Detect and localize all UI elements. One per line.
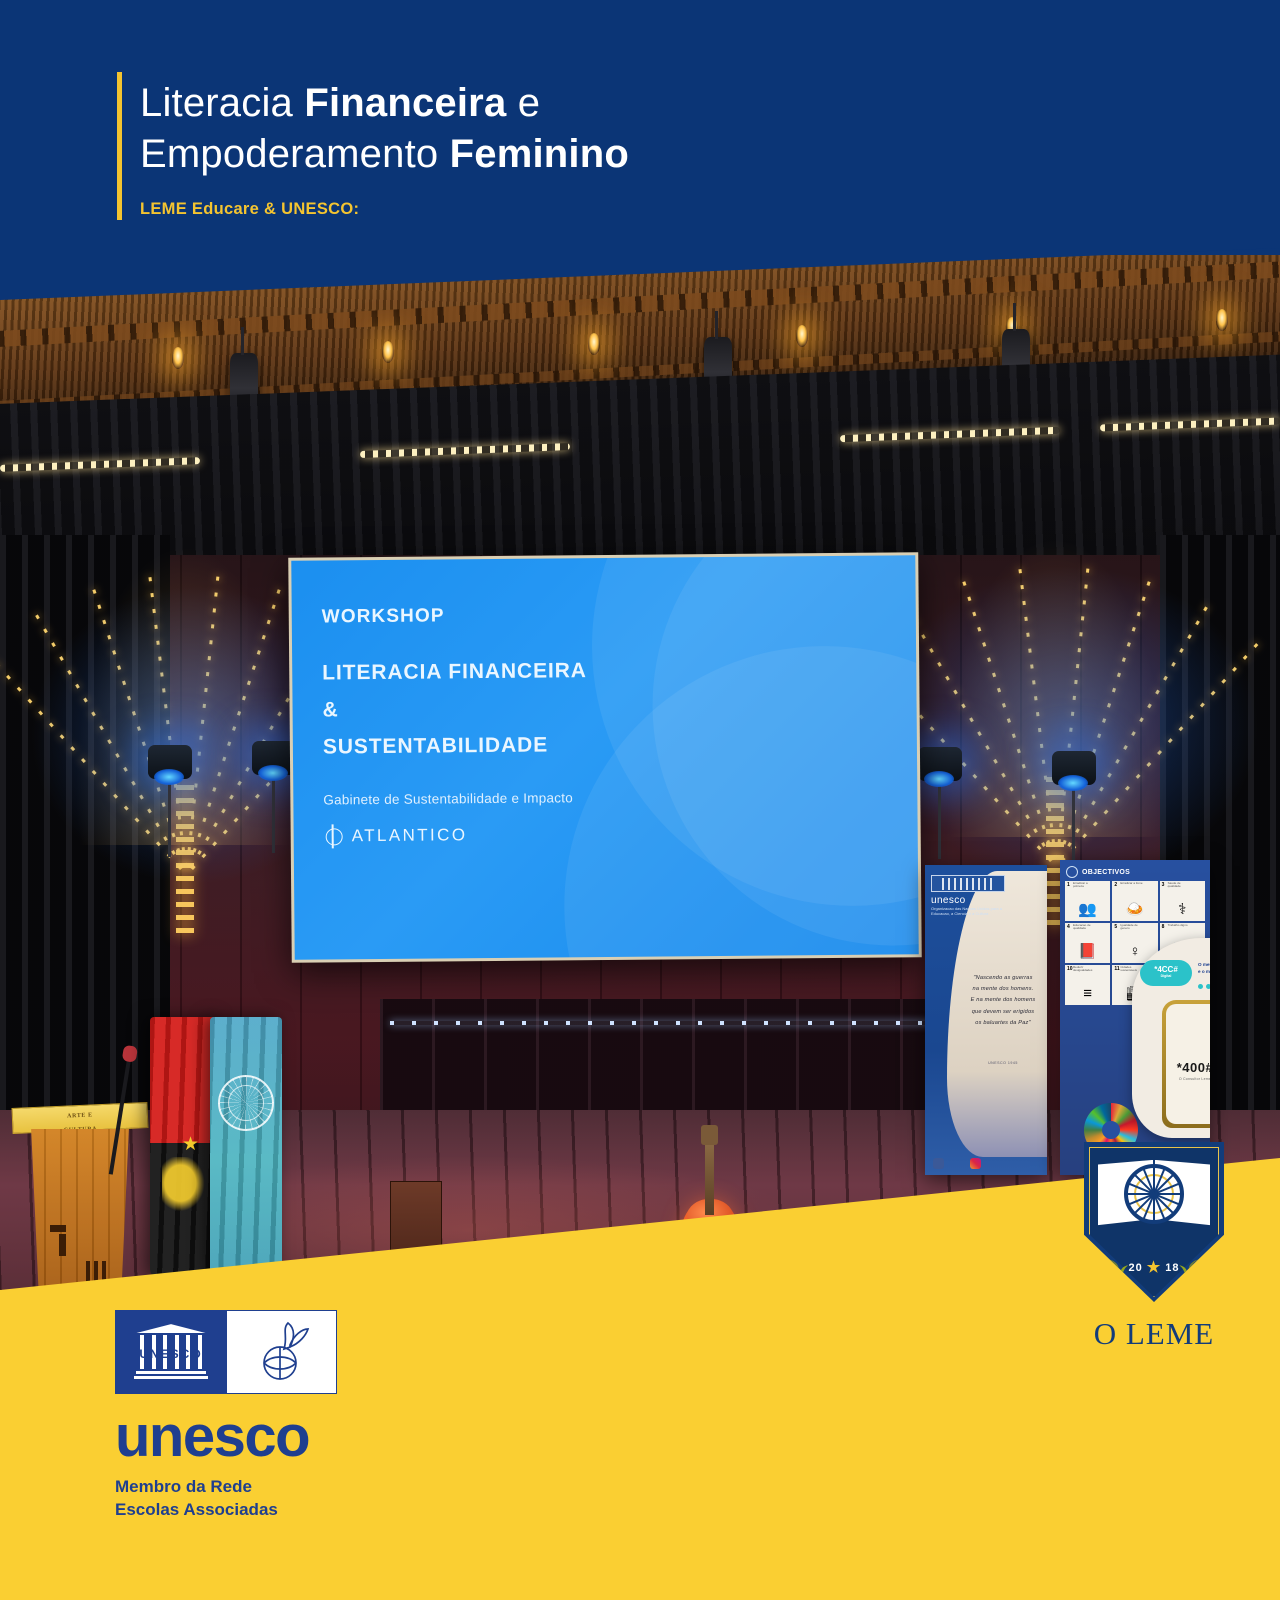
ceiling-bulb xyxy=(1216,309,1228,331)
quote-line: E na mente dos homens xyxy=(959,995,1047,1006)
guitar-headstock xyxy=(701,1125,718,1145)
sdg-goal-text: Erradicar a fome xyxy=(1120,882,1146,885)
unesco-network-label: Membro da Rede Escolas Associadas xyxy=(115,1476,415,1522)
podium-cutout xyxy=(59,1234,66,1256)
quote-line: na mente dos homens. xyxy=(959,984,1047,995)
page-title: Literacia Financeira e Empoderamento Fem… xyxy=(140,78,629,180)
phone-advert-headline: O meu telemovel e o meu Banco! xyxy=(1198,962,1210,976)
projection-screen: WORKSHOP LITERACIA FINANCEIRA & SUSTENTA… xyxy=(288,552,922,962)
stage-spotlight xyxy=(1052,751,1096,785)
crest-star-icon: ★ xyxy=(1147,1259,1161,1276)
crest-year: 20 ★ 18 xyxy=(1084,1258,1224,1276)
slide-title-line2: & xyxy=(322,687,906,729)
crest-year-left: 20 xyxy=(1128,1262,1142,1274)
spotlight-stand xyxy=(272,773,275,853)
ussd-code-sub: O Consultor Leme xyxy=(1166,1077,1210,1081)
sdg-goal-cell: 4Educacao de qualidade📕 xyxy=(1065,923,1110,963)
title-line-2: Empoderamento Feminino xyxy=(140,129,629,180)
sdg-goal-cell: 3Saude de qualidade⚕ xyxy=(1160,881,1205,921)
unesco-network-line1: Membro da Rede xyxy=(115,1476,415,1499)
unesco-tile-word: UNESCO xyxy=(116,1347,226,1361)
oleme-crest-icon: 🌾 🌾 20 ★ 18 xyxy=(1084,1142,1224,1302)
atlantico-logo-icon xyxy=(324,825,343,849)
title-word-bold: Financeira xyxy=(304,81,506,125)
crest-ships-wheel-icon xyxy=(1124,1164,1184,1224)
advert-dots xyxy=(1198,984,1210,989)
riser-led-bar xyxy=(390,1021,930,1025)
stage-spotlight xyxy=(148,745,192,779)
ussd-badge: *4CC# Digital xyxy=(1140,960,1192,986)
ussd-badge-sub: Digital xyxy=(1140,975,1192,979)
podium-cutouts xyxy=(50,1225,84,1259)
banner-unesco-source: UNESCO 1945 xyxy=(965,1061,1041,1065)
dot-icon xyxy=(1206,984,1210,989)
title-accent-bar xyxy=(117,72,122,220)
title-word-plain: Empoderamento xyxy=(140,132,450,176)
sdg-goal-number: 4 xyxy=(1067,924,1070,930)
poster-root: WORKSHOP LITERACIA FINANCEIRA & SUSTENTA… xyxy=(0,0,1280,1600)
slide-brand: ATLANTICO xyxy=(324,820,908,849)
quote-line: os baluartes da Paz" xyxy=(959,1018,1047,1029)
sdg-goal-cell: 1Erradicar a pobreza👥 xyxy=(1065,881,1110,921)
headline-line2: e o meu Banco! xyxy=(1198,969,1210,976)
ceiling-bulb xyxy=(382,341,394,363)
spotlight-stand xyxy=(938,779,941,859)
podium-body xyxy=(28,1129,132,1287)
banner-unesco-tile xyxy=(931,875,1005,892)
sdg-banner-title: OBJECTIVOS xyxy=(1082,869,1130,876)
sdg-goal-text: Erradicar a pobreza xyxy=(1073,882,1099,889)
sdg-goal-glyph: 👥 xyxy=(1078,900,1097,918)
un-logo-icon xyxy=(1066,866,1078,878)
facebook-icon xyxy=(933,1158,944,1169)
sdg-goal-cell: 2Erradicar a fome🍛 xyxy=(1112,881,1157,921)
title-word-bold: Feminino xyxy=(450,132,629,176)
sdg-goal-glyph: ♀ xyxy=(1129,943,1140,960)
ceiling-bulb xyxy=(796,325,808,347)
unesco-temple-icon xyxy=(942,878,994,890)
sdg-goal-text: Reduzir desigualdades xyxy=(1073,966,1099,973)
slide-surface: WORKSHOP LITERACIA FINANCEIRA & SUSTENTA… xyxy=(291,555,918,959)
ceiling-bulb xyxy=(588,333,600,355)
sdg-goal-number: 1 xyxy=(1067,882,1070,888)
podium-sign-line1: ARTE E xyxy=(13,1109,147,1123)
sdg-goal-glyph: 📕 xyxy=(1078,942,1097,960)
un-emblem-icon xyxy=(218,1075,274,1131)
dot-icon xyxy=(1198,984,1203,989)
banner-social-icons xyxy=(933,1158,981,1169)
sdg-banner-header: OBJECTIVOS xyxy=(1060,860,1210,881)
phone-advert: *4CC# Digital O meu telemovel e o meu Ba… xyxy=(1132,938,1210,1138)
flag-united-nations xyxy=(210,1017,282,1279)
sdg-goal-text: Igualdade de genero xyxy=(1120,924,1146,931)
banner-unesco-rollup: unesco Organizacao das Nacoes Unidas par… xyxy=(925,865,1047,1175)
phone-ussd-code: *400# O Consultor Leme xyxy=(1166,1060,1210,1081)
flag-angola-star-icon: ★ xyxy=(182,1135,199,1154)
flag-angola-emblem xyxy=(162,1157,208,1215)
associated-schools-tile xyxy=(226,1311,336,1393)
unesco-associated-schools-lockup: UNESCO unesco Membro da Rede Escola xyxy=(115,1310,415,1522)
wheel-spokes xyxy=(1128,1168,1180,1220)
ussd-badge-code: *4CC# xyxy=(1154,965,1178,974)
ceiling-bulb xyxy=(172,347,184,369)
sdg-goal-number: 11 xyxy=(1114,966,1119,972)
podium-cutout xyxy=(50,1225,66,1232)
crest-year-right: 18 xyxy=(1165,1262,1179,1274)
banner-unesco-tagline: Organizacao das Nacoes Unidas para a Edu… xyxy=(931,907,1005,917)
instagram-icon xyxy=(970,1158,981,1169)
unesco-network-line2: Escolas Associadas xyxy=(115,1499,415,1522)
oleme-brand-lockup: 🌾 🌾 20 ★ 18 O LEME xyxy=(1076,1142,1232,1352)
sdg-goal-glyph: 🍛 xyxy=(1126,900,1145,918)
sdg-goal-glyph: ≡ xyxy=(1083,985,1092,1002)
slide-title-line1: LITERACIA FINANCEIRA xyxy=(322,650,906,692)
sdg-goal-text: Trabalho digno xyxy=(1168,924,1194,927)
banner-unesco-quote: "Nascendo as guerras na mente dos homens… xyxy=(959,973,1047,1029)
quote-line: que devem ser erigidos xyxy=(959,1007,1047,1018)
sdg-goal-number: 10 xyxy=(1067,966,1073,972)
sdg-goal-glyph: ⚕ xyxy=(1178,900,1186,918)
headline-line1: O meu telemovel xyxy=(1198,962,1210,969)
temple-base-wide xyxy=(134,1376,208,1379)
banner-unesco-wordmark: unesco xyxy=(931,895,1005,906)
title-line-1: Literacia Financeira e xyxy=(140,78,629,129)
unesco-wordmark: unesco xyxy=(115,1408,415,1466)
title-word-plain: Literacia xyxy=(140,81,304,125)
stage-riser xyxy=(380,999,940,1125)
temple-base xyxy=(136,1371,206,1374)
sdg-goal-text: Educacao de qualidade xyxy=(1073,924,1099,931)
stage-spotlight xyxy=(918,747,962,781)
blue-wash-right xyxy=(880,565,1260,885)
sdg-goal-number: 3 xyxy=(1162,882,1165,888)
unesco-logo-tiles: UNESCO xyxy=(115,1310,337,1394)
phone-mockup: *400# O Consultor Leme xyxy=(1162,1000,1210,1128)
sdg-goal-number: 5 xyxy=(1114,924,1117,930)
spotlight-stand xyxy=(168,777,171,857)
phone-screen: *400# O Consultor Leme xyxy=(1166,1004,1210,1124)
banner-sdg-rollup: OBJECTIVOS 1Erradicar a pobreza👥 2Erradi… xyxy=(1060,860,1210,1175)
associated-schools-bird-icon xyxy=(254,1321,310,1383)
slide-department: Gabinete de Sustentabilidade e Impacto xyxy=(323,788,907,808)
slide-title-line3: SUSTENTABILIDADE xyxy=(323,724,907,766)
quote-line: "Nascendo as guerras xyxy=(959,973,1047,984)
slide-brand-label: ATLANTICO xyxy=(352,825,468,846)
title-word-tail: e xyxy=(506,81,540,125)
banner-unesco-logo: unesco Organizacao das Nacoes Unidas par… xyxy=(931,875,1005,917)
sdg-goal-number: 2 xyxy=(1114,882,1117,888)
ussd-code-value: *400# xyxy=(1177,1060,1210,1075)
sdg-goal-cell: 10Reduzir desigualdades≡ xyxy=(1065,965,1110,1005)
guitar-neck xyxy=(705,1141,714,1215)
slide-workshop-label: WORKSHOP xyxy=(322,601,906,628)
unesco-emblem-tile: UNESCO xyxy=(116,1311,226,1393)
spotlight-stand xyxy=(1072,783,1075,863)
slide-text-block: WORKSHOP LITERACIA FINANCEIRA & SUSTENTA… xyxy=(322,601,908,848)
sdg-goal-number: 8 xyxy=(1162,924,1165,930)
oleme-wordmark: O LEME xyxy=(1076,1316,1232,1352)
header-subtitle: LEME Educare & UNESCO: xyxy=(140,200,359,219)
podium: ARTE E CULTURA xyxy=(20,1105,140,1285)
temple-pediment xyxy=(136,1324,206,1333)
sdg-goal-text: Saude de qualidade xyxy=(1168,882,1194,889)
